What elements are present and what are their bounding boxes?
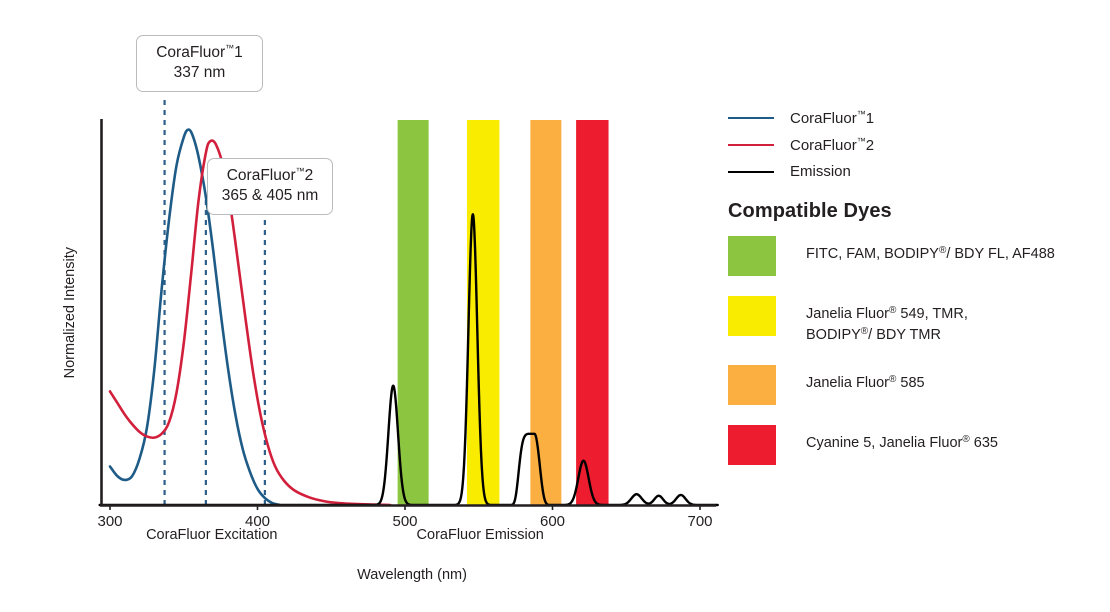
callout2-line1: CoraFluor™2 (220, 166, 320, 186)
dye-row-2: Janelia Fluor® 549, TMR,BODIPY®/ BDY TMR (728, 296, 1103, 345)
dye-color-swatch (728, 236, 776, 276)
compatible-dyes-title: Compatible Dyes (728, 200, 892, 223)
callout1-line1: CoraFluor™1 (149, 43, 250, 63)
legend-line-swatch (728, 144, 774, 146)
x-tick-label-500: 500 (392, 513, 417, 530)
legend-line-swatch (728, 117, 774, 119)
dye-label: Janelia Fluor® 549, TMR,BODIPY®/ BDY TMR (806, 296, 968, 345)
dye-color-swatch (728, 365, 776, 405)
axis-caption-emission: CoraFluor Emission (417, 527, 544, 543)
emission-band-orange (530, 120, 561, 505)
axis-caption-excitation: CoraFluor Excitation (146, 527, 277, 543)
y-axis-label: Normalized Intensity (62, 247, 78, 378)
emission-band-yellow (467, 120, 499, 505)
emission-band-green (398, 120, 429, 505)
legend-item-1: CoraFluor™1 (728, 104, 1103, 131)
legend-item-label: CoraFluor™1 (790, 109, 874, 127)
dye-label: Janelia Fluor® 585 (806, 365, 925, 394)
figure-root: CoraFluor™1 337 nm CoraFluor™2 365 & 405… (0, 0, 1110, 612)
series-legend: CoraFluor™1CoraFluor™2Emission (728, 104, 1103, 185)
dye-color-swatch (728, 296, 776, 336)
callout2-line2: 365 & 405 nm (220, 186, 320, 206)
dye-label: FITC, FAM, BODIPY®/ BDY FL, AF488 (806, 236, 1055, 265)
dye-label: Cyanine 5, Janelia Fluor® 635 (806, 425, 998, 454)
legend-item-label: Emission (790, 163, 851, 180)
x-axis-label: Wavelength (nm) (357, 567, 467, 583)
legend-line-swatch (728, 171, 774, 173)
legend-item-label: CoraFluor™2 (790, 136, 874, 154)
x-tick-label-300: 300 (97, 513, 122, 530)
dye-row-4: Cyanine 5, Janelia Fluor® 635 (728, 425, 1103, 465)
compatible-dyes-list: FITC, FAM, BODIPY®/ BDY FL, AF488Janelia… (728, 236, 1103, 485)
dye-row-1: FITC, FAM, BODIPY®/ BDY FL, AF488 (728, 236, 1103, 276)
dye-row-3: Janelia Fluor® 585 (728, 365, 1103, 405)
callout1-line2: 337 nm (149, 63, 250, 83)
dye-color-swatch (728, 425, 776, 465)
emission-band-red (576, 120, 608, 505)
x-tick-label-700: 700 (687, 513, 712, 530)
legend-item-2: CoraFluor™2 (728, 131, 1103, 158)
callout-corafluor1: CoraFluor™1 337 nm (136, 35, 263, 92)
legend-item-3: Emission (728, 158, 1103, 185)
callout-corafluor2: CoraFluor™2 365 & 405 nm (207, 158, 333, 215)
